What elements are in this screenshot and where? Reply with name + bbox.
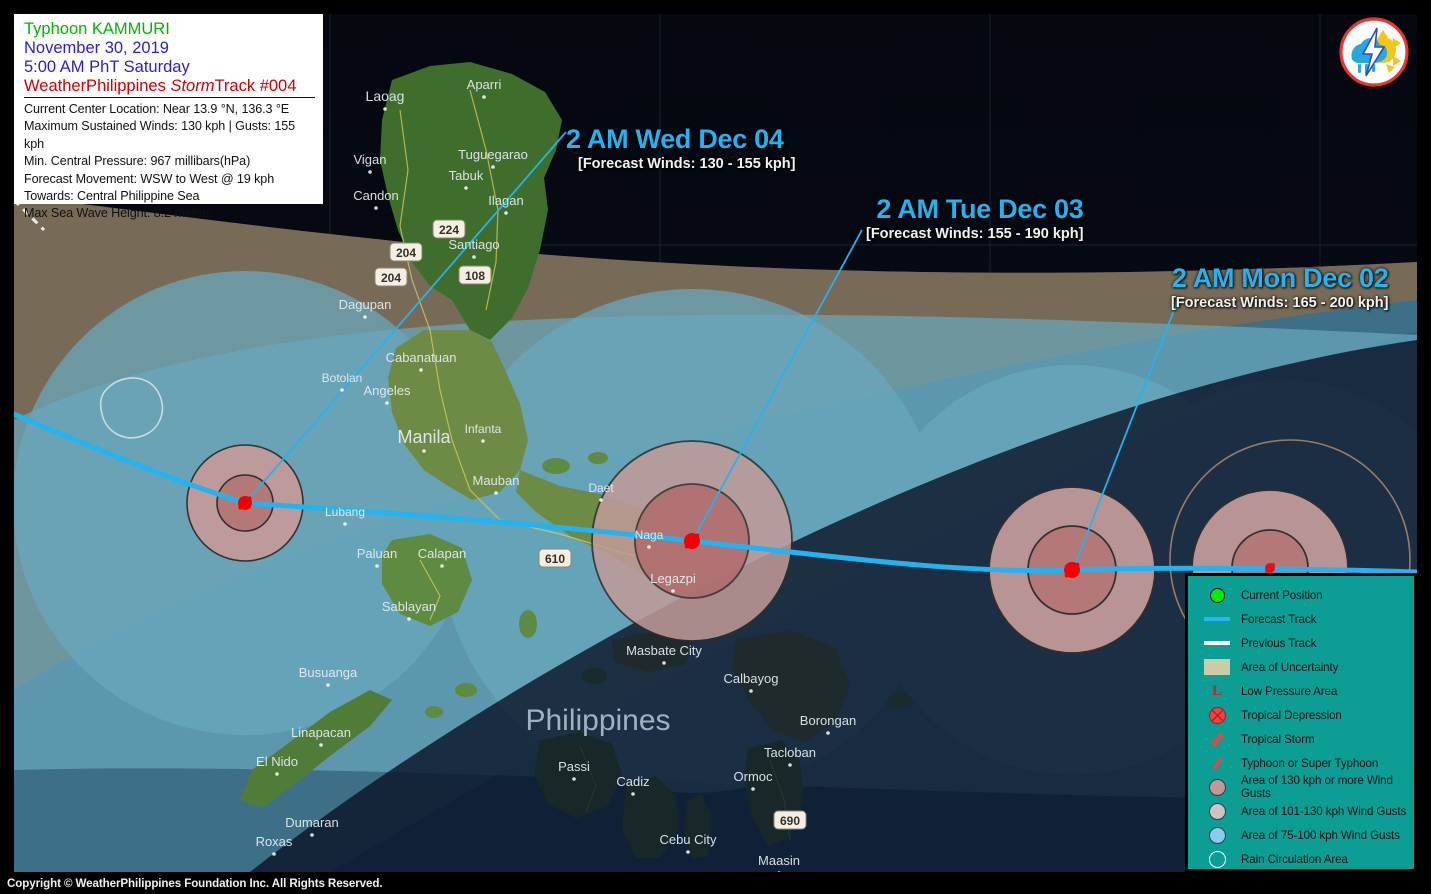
city-name: Cabanatuan — [386, 350, 457, 365]
city-name: Cebu City — [659, 832, 717, 847]
highway-shield-690-5: 690 — [774, 811, 806, 829]
legend-icon-wrap — [1201, 851, 1233, 868]
city-name: Aparri — [467, 77, 502, 92]
storm-name: Typhoon KAMMURI — [24, 20, 315, 39]
city-dot — [326, 683, 330, 687]
storm-detail-1: Maximum Sustained Winds: 130 kph | Gusts… — [24, 118, 315, 153]
city-name: Busuanga — [299, 665, 358, 680]
legend-item-wind-gust-130: Area of 130 kph or more Wind Gusts — [1188, 775, 1414, 799]
city-name: Naga — [635, 528, 664, 542]
legend-label: Area of 101-130 kph Wind Gusts — [1241, 805, 1406, 818]
city-name: Manila — [397, 427, 451, 447]
forecast-winds-dec02: [Forecast Winds: 165 - 200 kph] — [1171, 295, 1388, 311]
typhoon-symbol-dec04 — [238, 496, 252, 510]
city-dot — [504, 211, 508, 215]
city-dot — [368, 170, 372, 174]
storm-detail-0: Current Center Location: Near 13.9 °N, 1… — [24, 101, 315, 118]
city-name: Lubang — [325, 505, 365, 519]
city-dot — [491, 165, 495, 169]
city-dot — [572, 777, 576, 781]
city-name: Calapan — [418, 546, 466, 561]
city-dot — [788, 763, 792, 767]
forecast-label-dec04: 2 AM Wed Dec 04 [Forecast Winds: 130 - 1… — [566, 124, 795, 172]
city-dot — [310, 833, 314, 837]
city-name: Passi — [558, 759, 590, 774]
legend-label: Previous Track — [1241, 637, 1316, 650]
city-dot — [494, 491, 498, 495]
city-name: Dagupan — [339, 297, 392, 312]
legend-label: Tropical Depression — [1241, 709, 1342, 722]
storm-detail-5: Max Sea Wave Height: 8.2 meters. — [24, 205, 315, 222]
city-dot — [375, 564, 379, 568]
shield-number: 690 — [780, 814, 800, 828]
footer-bar: Copyright © WeatherPhilippines Foundatio… — [0, 872, 1431, 894]
typhoon-symbol — [1208, 754, 1227, 773]
forecast-winds-dec03: [Forecast Winds: 155 - 190 kph] — [866, 226, 1083, 242]
previous-track-line — [1204, 641, 1230, 644]
city-dot — [440, 564, 444, 568]
bulletin-prefix: WeatherPhilippines — [24, 77, 170, 95]
city-dot — [419, 368, 423, 372]
city-dot — [751, 787, 755, 791]
legend-icon-wrap — [1201, 827, 1233, 844]
shield-number: 610 — [545, 552, 565, 566]
highway-shield-610-4: 610 — [539, 549, 571, 567]
legend-label: Area of 130 kph or more Wind Gusts — [1241, 774, 1414, 800]
rain-circulation-ring — [1209, 851, 1226, 868]
storm-detail-4: Towards: Central Philippine Sea — [24, 188, 315, 205]
city-name: Tuguegarao — [458, 147, 528, 162]
city-name: Dumaran — [285, 815, 338, 830]
legend-icon-wrap — [1201, 588, 1233, 603]
city-name: Sablayan — [382, 599, 436, 614]
legend-item-previous-track: Previous Track — [1188, 631, 1414, 655]
copyright-text: Copyright © WeatherPhilippines Foundatio… — [0, 877, 382, 890]
legend-label: Area of Uncertainty — [1241, 661, 1338, 674]
city-dot — [374, 206, 378, 210]
city-name: Borongan — [800, 713, 856, 728]
screenshot-root: AparriLaoagViganTuguegaraoTabukCandonIla… — [0, 0, 1431, 894]
legend-label: Typhoon or Super Typhoon — [1241, 757, 1378, 770]
legend-item-tropical-depression: Tropical Depression — [1188, 703, 1414, 727]
forecast-label-dec03: 2 AM Tue Dec 03 [Forecast Winds: 155 - 1… — [866, 194, 1083, 242]
current-position-dot — [1210, 588, 1225, 603]
city-dot — [407, 617, 411, 621]
logo-icon — [1339, 17, 1409, 87]
typhoon-symbol-current — [1265, 563, 1275, 573]
city-dot — [340, 388, 344, 392]
legend-item-forecast-track: Forecast Track — [1188, 607, 1414, 631]
city-name: Legazpi — [650, 571, 696, 586]
legend-label: Forecast Track — [1241, 613, 1316, 626]
city-name: Vigan — [353, 152, 386, 167]
city-name: Santiago — [448, 237, 499, 252]
legend-item-wind-gust-101-130: Area of 101-130 kph Wind Gusts — [1188, 799, 1414, 823]
city-dot — [599, 498, 603, 502]
storm-detail-2: Min. Central Pressure: 967 millibars(hPa… — [24, 153, 315, 170]
city-dot — [343, 522, 347, 526]
highway-shield-108-3: 108 — [459, 266, 491, 284]
city-name: Linapacan — [291, 725, 351, 740]
city-dot — [647, 545, 651, 549]
city-name: Masbate City — [626, 643, 702, 658]
city-dot — [383, 107, 387, 111]
highway-shield-204-1: 204 — [390, 243, 422, 261]
forecast-date-dec02: 2 AM Mon Dec 02 — [1171, 263, 1388, 294]
city-dot — [275, 772, 279, 776]
legend-label: Low Pressure Area — [1241, 685, 1337, 698]
storm-detail-3: Forecast Movement: WSW to West @ 19 kph — [24, 171, 315, 188]
storm-info-panel: Typhoon KAMMURI November 30, 2019 5:00 A… — [14, 14, 323, 204]
city-name: Angeles — [364, 383, 411, 398]
shield-number: 224 — [439, 223, 459, 237]
city-name: Ormoc — [734, 769, 774, 784]
city-name: Maasin — [758, 853, 800, 868]
legend-icon-wrap — [1201, 617, 1233, 620]
storm-date: November 30, 2019 — [24, 39, 315, 58]
city-dot — [464, 186, 468, 190]
city-name: Paluan — [357, 546, 397, 561]
shield-number: 108 — [465, 269, 485, 283]
legend-label: Rain Circulation Area — [1241, 853, 1348, 866]
city-dot — [363, 315, 367, 319]
area-of-uncertainty-swatch — [1204, 659, 1230, 675]
legend-icon-wrap — [1201, 779, 1233, 796]
typhoon-symbol-dec03 — [684, 533, 700, 549]
shield-number: 204 — [396, 246, 416, 260]
highway-shield-224-0: 224 — [433, 220, 465, 238]
bulletin-suffix: Track #004 — [214, 77, 296, 95]
legend-label: Area of 75-100 kph Wind Gusts — [1241, 829, 1400, 842]
city-name: Cadiz — [616, 774, 649, 789]
map-legend: Current PositionForecast TrackPrevious T… — [1185, 573, 1417, 872]
city-name: Mauban — [473, 473, 520, 488]
forecast-track-line — [1204, 617, 1230, 620]
city-name: Tacloban — [764, 745, 816, 760]
city-dot — [662, 661, 666, 665]
wind-gust-130-dot — [1209, 779, 1226, 796]
city-dot — [826, 731, 830, 735]
legend-icon-wrap — [1201, 659, 1233, 675]
city-dot — [749, 689, 753, 693]
city-name: Candon — [353, 188, 399, 203]
legend-icon-wrap — [1201, 730, 1233, 749]
legend-item-tropical-storm: Tropical Storm — [1188, 727, 1414, 751]
city-name: Laoag — [366, 88, 405, 104]
city-name: Tabuk — [449, 168, 484, 183]
legend-icon-wrap — [1201, 803, 1233, 820]
forecast-date-dec03: 2 AM Tue Dec 03 — [866, 194, 1083, 225]
legend-icon-wrap: L — [1201, 683, 1233, 700]
city-dot — [481, 439, 485, 443]
tropical-storm-symbol — [1208, 730, 1227, 749]
city-dot — [472, 255, 476, 259]
city-dot — [482, 95, 486, 99]
storm-detail-list: Current Center Location: Near 13.9 °N, 1… — [24, 101, 315, 223]
wind-gust-101-130-dot — [1209, 803, 1226, 820]
storm-time: 5:00 AM PhT Saturday — [24, 58, 315, 77]
city-name: Infanta — [465, 422, 502, 436]
highway-shield-204-2: 204 — [375, 268, 407, 286]
shield-number: 204 — [381, 271, 401, 285]
city-name: El Nido — [256, 754, 298, 769]
city-dot — [631, 792, 635, 796]
city-name: Calbayog — [724, 671, 779, 686]
forecast-winds-dec04: [Forecast Winds: 130 - 155 kph] — [578, 156, 795, 172]
typhoon-symbol-dec02 — [1064, 562, 1080, 578]
legend-icon-wrap — [1201, 706, 1233, 725]
legend-icon-wrap — [1201, 641, 1233, 644]
city-dot — [319, 743, 323, 747]
forecast-date-dec04: 2 AM Wed Dec 04 — [566, 124, 795, 155]
legend-rows: Current PositionForecast TrackPrevious T… — [1188, 583, 1414, 871]
bulletin-title: WeatherPhilippines StormTrack #004 — [24, 77, 315, 98]
city-dot — [385, 401, 389, 405]
legend-item-rain-circulation: Rain Circulation Area — [1188, 847, 1414, 871]
legend-item-typhoon: Typhoon or Super Typhoon — [1188, 751, 1414, 775]
legend-icon-wrap — [1201, 754, 1233, 773]
region-label: Philippines — [525, 704, 670, 737]
legend-item-area-of-uncertainty: Area of Uncertainty — [1188, 655, 1414, 679]
forecast-label-dec02: 2 AM Mon Dec 02 [Forecast Winds: 165 - 2… — [1171, 263, 1388, 311]
bulletin-italic: Storm — [170, 77, 214, 95]
low-pressure-area-symbol: L — [1212, 683, 1222, 700]
city-dot — [422, 449, 426, 453]
tropical-depression-symbol — [1208, 706, 1227, 725]
city-dot — [272, 852, 276, 856]
legend-label: Tropical Storm — [1241, 733, 1315, 746]
city-dot — [686, 850, 690, 854]
weatherphilippines-logo — [1339, 17, 1409, 87]
city-name: Ilagan — [488, 193, 523, 208]
city-name: Roxas — [256, 834, 293, 849]
wind-gust-75-100-dot — [1209, 827, 1226, 844]
legend-item-current-position: Current Position — [1188, 583, 1414, 607]
legend-item-wind-gust-75-100: Area of 75-100 kph Wind Gusts — [1188, 823, 1414, 847]
legend-item-low-pressure-area: LLow Pressure Area — [1188, 679, 1414, 703]
city-name: Botolan — [322, 371, 363, 385]
city-name: Daet — [588, 481, 614, 495]
legend-label: Current Position — [1241, 589, 1323, 602]
city-dot — [671, 589, 675, 593]
